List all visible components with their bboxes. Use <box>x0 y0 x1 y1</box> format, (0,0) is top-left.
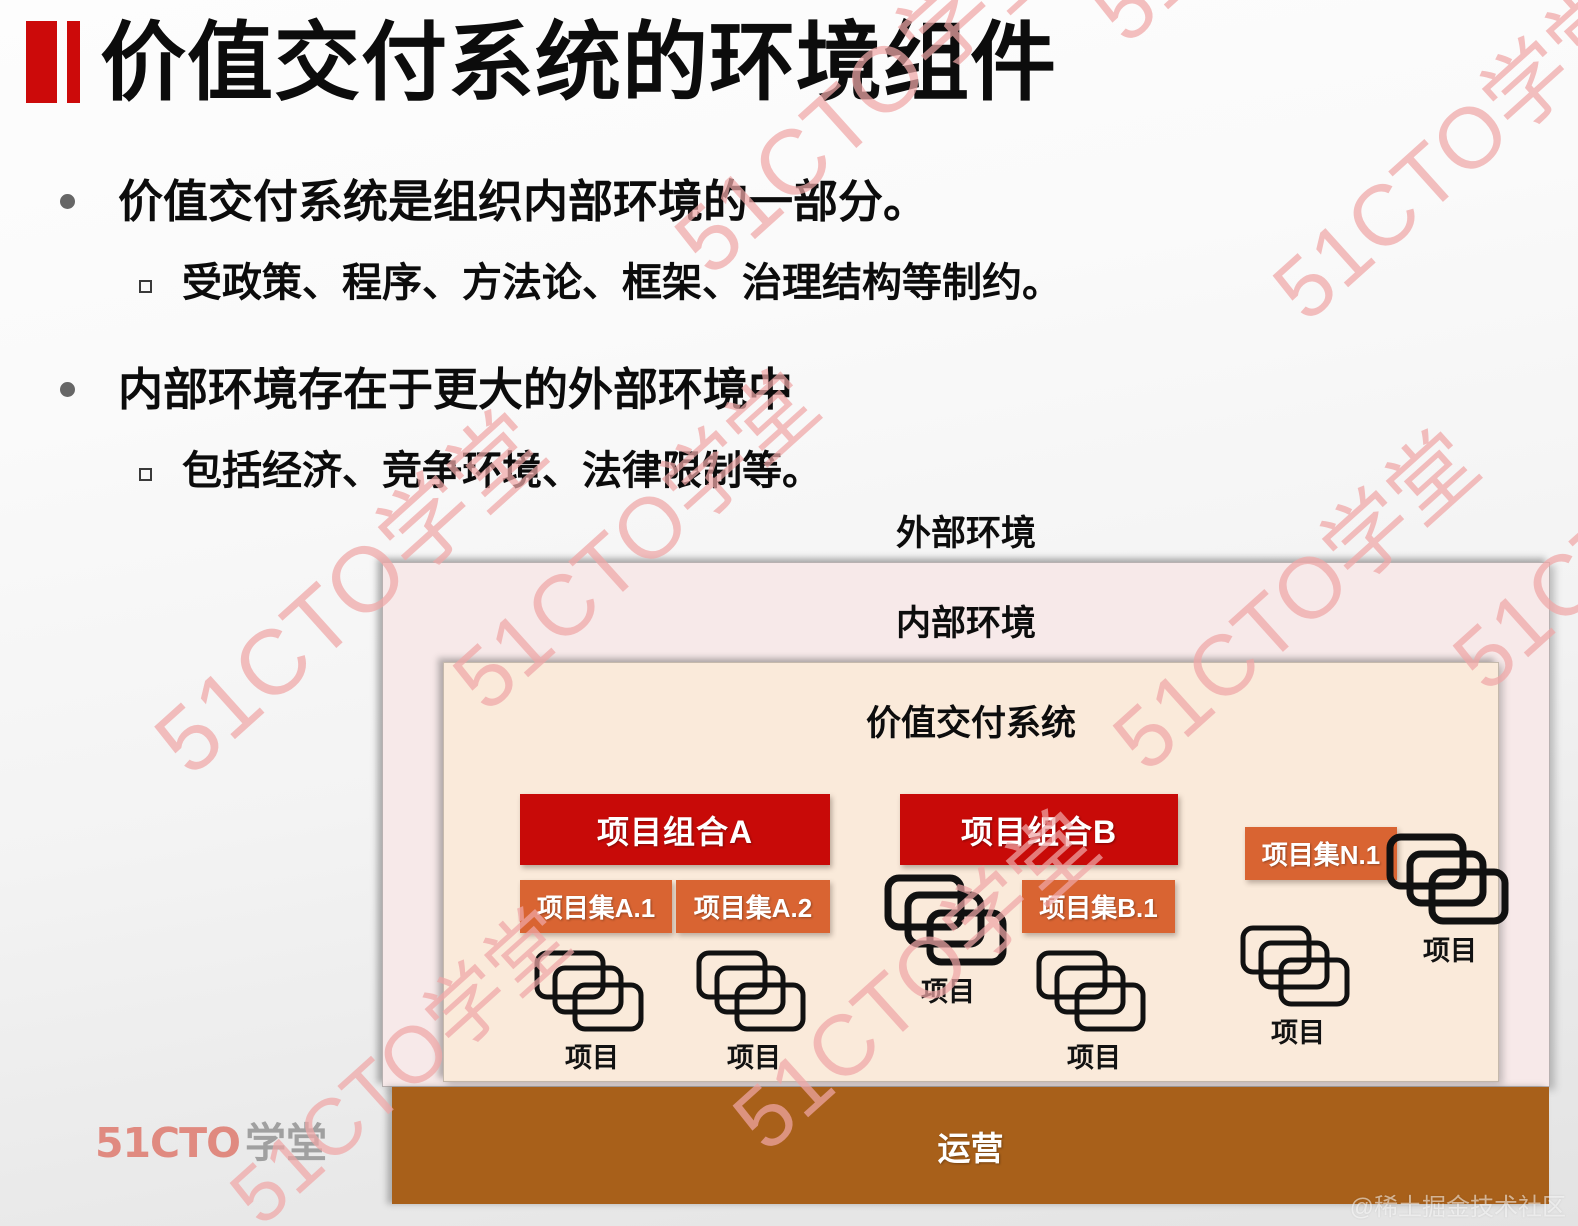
value-delivery-system-diagram: 外部环境 内部环境 价值交付系统 项目组合A 项目组合B 项目集A.1 项目集A… <box>0 0 1578 1226</box>
footer-logo-word: 学堂 <box>245 1109 327 1169</box>
project-group-a2[interactable]: 项目 <box>696 950 812 1075</box>
value-delivery-system-box: 价值交付系统 项目组合A 项目组合B 项目集A.1 项目集A.2 项目集B.1 … <box>443 662 1499 1082</box>
footer-logo-mark: 51CTO <box>95 1119 240 1167</box>
program-n1-label: 项目集N.1 <box>1262 835 1380 872</box>
project-stack-icon <box>534 950 650 1034</box>
project-caption: 项目 <box>884 970 1012 1009</box>
program-b1-label: 项目集B.1 <box>1039 888 1157 925</box>
project-caption: 项目 <box>1386 929 1514 968</box>
project-group-n1[interactable]: 项目 <box>1240 925 1356 1050</box>
portfolio-a-label: 项目组合A <box>597 807 753 853</box>
program-a1-box[interactable]: 项目集A.1 <box>520 880 672 933</box>
project-group-b1[interactable]: 项目 <box>884 874 1012 1009</box>
portfolio-b-label: 项目组合B <box>961 807 1117 853</box>
program-n1-box[interactable]: 项目集N.1 <box>1245 827 1397 880</box>
internal-environment-label: 内部环境 <box>383 595 1549 646</box>
project-stack-icon <box>1386 833 1514 927</box>
portfolio-a-box[interactable]: 项目组合A <box>520 794 830 865</box>
project-stack-icon <box>884 874 1012 968</box>
program-b1-box[interactable]: 项目集B.1 <box>1022 880 1175 933</box>
project-stack-icon <box>1240 925 1356 1009</box>
project-group-n2[interactable]: 项目 <box>1386 833 1514 968</box>
program-a2-label: 项目集A.2 <box>694 888 812 925</box>
value-delivery-system-label: 价值交付系统 <box>444 695 1498 746</box>
project-caption: 项目 <box>1036 1036 1152 1075</box>
project-group-a1[interactable]: 项目 <box>534 950 650 1075</box>
footer-logo: 51CTO 学堂 <box>95 1109 327 1169</box>
project-stack-icon <box>696 950 812 1034</box>
operations-label: 运营 <box>938 1122 1004 1170</box>
external-environment-label: 外部环境 <box>382 505 1550 556</box>
project-caption: 项目 <box>696 1036 812 1075</box>
project-caption: 项目 <box>534 1036 650 1075</box>
program-a1-label: 项目集A.1 <box>537 888 655 925</box>
internal-environment-box: 内部环境 价值交付系统 项目组合A 项目组合B 项目集A.1 项目集A.2 项目… <box>382 562 1550 1087</box>
project-stack-icon <box>1036 950 1152 1034</box>
project-group-b2[interactable]: 项目 <box>1036 950 1152 1075</box>
corner-watermark: @稀土掘金技术社区 <box>1350 1187 1566 1222</box>
portfolio-b-box[interactable]: 项目组合B <box>900 794 1178 865</box>
program-a2-box[interactable]: 项目集A.2 <box>676 880 830 933</box>
project-caption: 项目 <box>1240 1011 1356 1050</box>
